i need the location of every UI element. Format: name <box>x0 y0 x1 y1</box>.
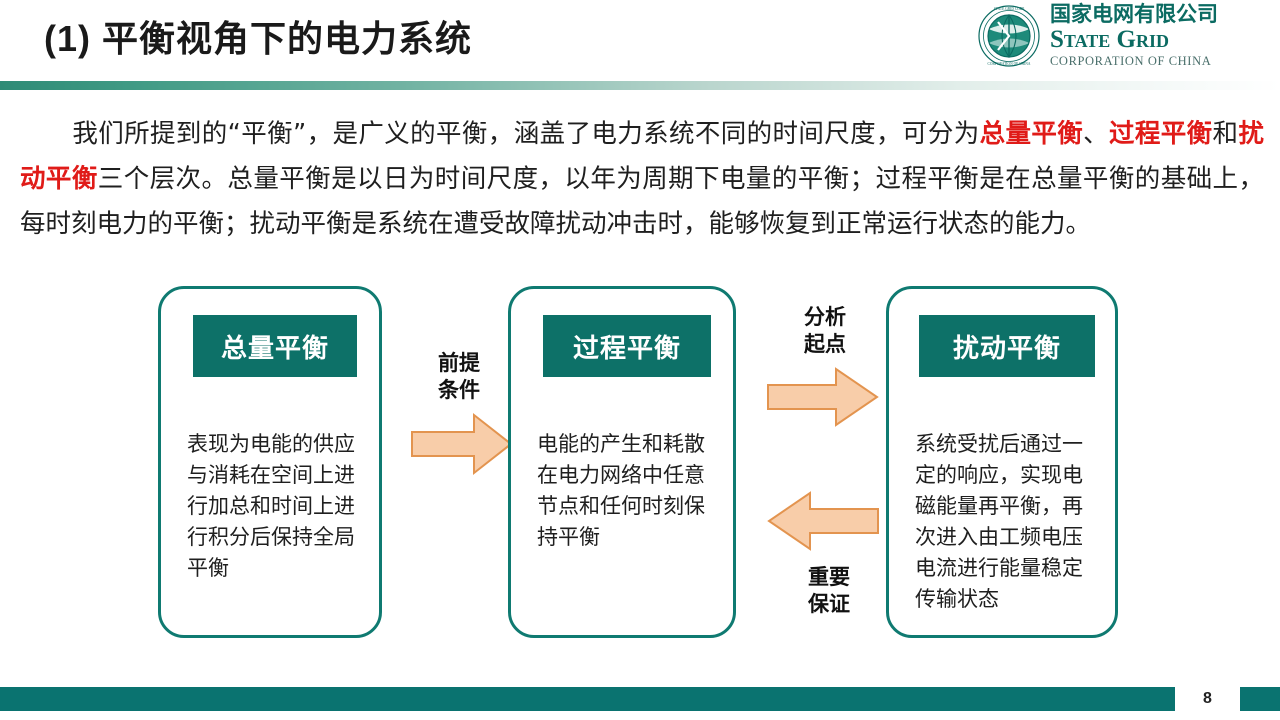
arrow-precondition-label-line2: 条件 <box>404 377 514 404</box>
logo-name-en-g: G <box>1117 26 1136 53</box>
logo-name-en-s: S <box>1050 26 1064 53</box>
arrow-important-guarantee-label-line1: 重要 <box>784 564 874 591</box>
paragraph-highlight-process-balance: 过程平衡 <box>1109 119 1213 149</box>
logo-sub-en: CORPORATION OF CHINA <box>1050 55 1218 68</box>
arrow-analysis-start-label-line1: 分析 <box>780 304 870 331</box>
paragraph-seg-2: 、 <box>1083 119 1109 149</box>
concept-card-disturbance-balance: 扰动平衡 系统受扰后通过一定的响应，实现电磁能量再平衡，再次进入由工频电压电流进… <box>886 286 1118 638</box>
svg-text:STATE GRID CORP: STATE GRID CORP <box>994 7 1024 11</box>
arrow-precondition-icon <box>410 412 514 476</box>
arrow-analysis-start-label: 分析 起点 <box>780 304 870 358</box>
balance-concept-diagram: 总量平衡 表现为电能的供应与消耗在空间上进行加总和时间上进行积分后保持全局平衡 … <box>0 278 1280 658</box>
state-grid-logo: STATE GRID CORP CORPORATION OF CHINA 国家电… <box>978 4 1218 68</box>
concept-card-process-balance: 过程平衡 电能的产生和耗散在电力网络中任意节点和任何时刻保持平衡 <box>508 286 736 638</box>
page-title: (1) 平衡视角下的电力系统 <box>44 10 472 62</box>
arrow-precondition: 前提 条件 <box>404 350 514 480</box>
concept-card-total-balance: 总量平衡 表现为电能的供应与消耗在空间上进行加总和时间上进行积分后保持全局平衡 <box>158 286 382 638</box>
bottom-strip <box>0 711 1280 720</box>
logo-wordmark: 国家电网有限公司 STATE GRID CORPORATION OF CHINA <box>1050 4 1218 68</box>
footer-bar-left <box>0 687 1175 711</box>
arrow-precondition-label-line1: 前提 <box>404 350 514 377</box>
svg-text:CORPORATION OF CHINA: CORPORATION OF CHINA <box>988 62 1031 66</box>
card-header-disturbance-balance: 扰动平衡 <box>919 315 1095 377</box>
paragraph-highlight-total-balance: 总量平衡 <box>980 119 1084 149</box>
state-grid-globe-emblem: STATE GRID CORP CORPORATION OF CHINA <box>978 5 1040 67</box>
page-number: 8 <box>1175 687 1240 711</box>
card-header-total-balance: 总量平衡 <box>193 315 357 377</box>
paragraph-seg-1: 我们所提到的“平衡”，是广义的平衡，涵盖了电力系统不同的时间尺度，可分为 <box>72 119 980 149</box>
logo-name-cn: 国家电网有限公司 <box>1050 4 1218 25</box>
card-body-disturbance-balance: 系统受扰后通过一定的响应，实现电磁能量再平衡，再次进入由工频电压电流进行能量稳定… <box>915 429 1097 615</box>
card-header-process-balance: 过程平衡 <box>543 315 711 377</box>
logo-name-en-rid: RID <box>1136 31 1169 51</box>
arrow-important-guarantee-label-line2: 保证 <box>784 591 874 618</box>
paragraph-seg-3: 和 <box>1213 119 1239 149</box>
arrow-analysis-start: 分析 起点 <box>766 304 884 434</box>
body-paragraph: 我们所提到的“平衡”，是广义的平衡，涵盖了电力系统不同的时间尺度，可分为总量平衡… <box>20 112 1264 247</box>
arrow-important-guarantee-label: 重要 保证 <box>784 564 874 618</box>
header-divider-rule <box>0 81 1280 90</box>
arrow-analysis-start-label-line2: 起点 <box>780 331 870 358</box>
arrow-analysis-start-icon <box>766 366 880 428</box>
logo-name-en: STATE GRID <box>1050 27 1218 52</box>
paragraph-seg-4: 三个层次。总量平衡是以日为时间尺度，以年为周期下电量的平衡；过程平衡是在总量平衡… <box>20 164 1264 239</box>
logo-name-en-tate: TATE <box>1064 31 1110 51</box>
arrow-precondition-label: 前提 条件 <box>404 350 514 404</box>
footer-bar-right <box>1240 687 1280 711</box>
slide-header: (1) 平衡视角下的电力系统 STATE GRID CORP CORPORATI… <box>0 0 1280 92</box>
card-body-total-balance: 表现为电能的供应与消耗在空间上进行加总和时间上进行积分后保持全局平衡 <box>187 429 361 584</box>
arrow-important-guarantee-icon <box>766 490 880 552</box>
card-body-process-balance: 电能的产生和耗散在电力网络中任意节点和任何时刻保持平衡 <box>537 429 715 553</box>
arrow-important-guarantee: 重要 保证 <box>766 490 884 630</box>
